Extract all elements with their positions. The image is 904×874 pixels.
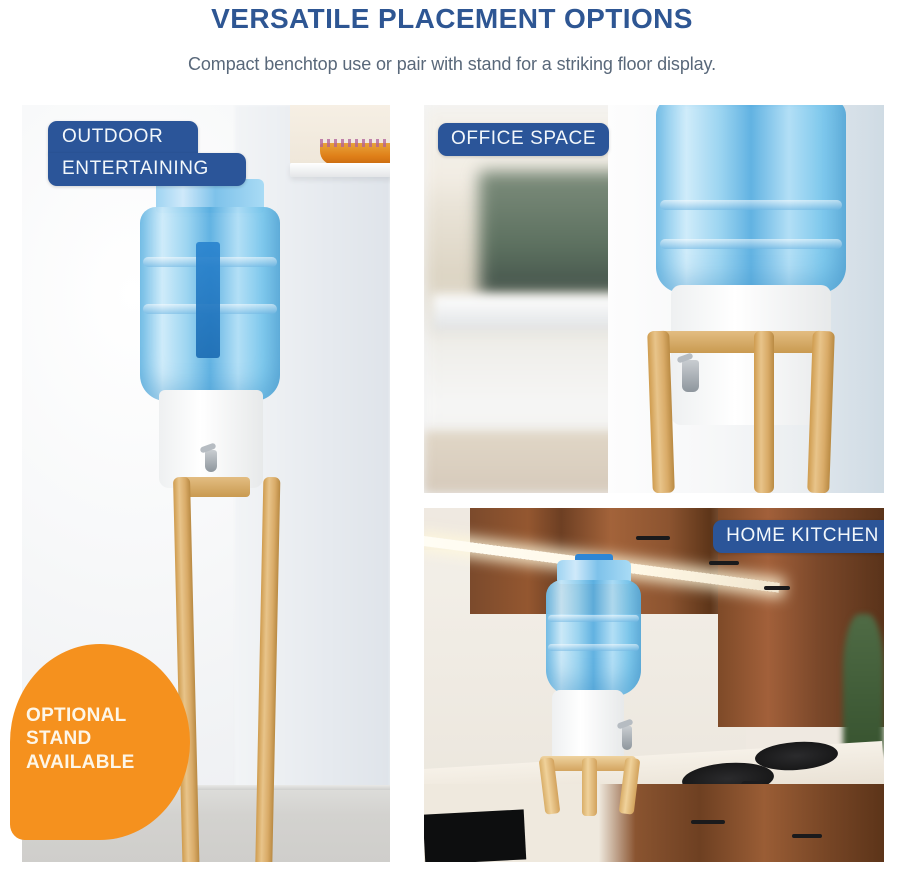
bottle-body [546, 580, 641, 696]
bottle-body [656, 105, 846, 293]
badge-line-1: OUTDOOR [48, 121, 198, 154]
stand-leg-center [754, 331, 774, 493]
stand-top-rail [650, 331, 828, 353]
header: VERSATILE PLACEMENT OPTIONS Compact benc… [0, 0, 904, 100]
bottle-label-strip [196, 242, 220, 358]
decorative-bowl [320, 143, 390, 165]
bubble-line-3: AVAILABLE [26, 751, 135, 774]
page-subtitle: Compact benchtop use or pair with stand … [0, 54, 904, 75]
drawer-handle [792, 834, 822, 838]
bottle-rib [548, 615, 639, 622]
water-bottle [546, 554, 641, 694]
dispenser-base [671, 285, 831, 425]
bottle-rib [660, 239, 842, 249]
badge-outdoor-entertaining: OUTDOOR ENTERTAINING [48, 121, 246, 186]
optional-stand-badge: OPTIONAL STAND AVAILABLE [10, 644, 190, 840]
badge-line-2: ENTERTAINING [48, 153, 246, 186]
kitchen-plant [843, 614, 884, 756]
water-bottle [656, 105, 846, 293]
page-title: VERSATILE PLACEMENT OPTIONS [0, 4, 904, 35]
cabinet-handle [764, 586, 790, 590]
stand-leg-center [582, 758, 597, 816]
bottle-rib [660, 200, 842, 210]
bottle-body [140, 207, 280, 401]
dispenser-base [159, 390, 263, 488]
badge-home-kitchen: HOME KITCHEN [713, 520, 884, 553]
photo-home-kitchen [424, 508, 884, 862]
optional-stand-badge-text: OPTIONAL STAND AVAILABLE [10, 704, 135, 774]
photo-office-space [424, 105, 884, 493]
water-bottle [140, 171, 280, 401]
wall-shelf [290, 163, 390, 177]
cabinet-handle [709, 561, 739, 565]
panel-home-kitchen: HOME KITCHEN [424, 508, 884, 862]
dispenser-tap [205, 450, 217, 472]
promo-graphic: VERSATILE PLACEMENT OPTIONS Compact benc… [0, 0, 904, 874]
bottle-rib [548, 644, 639, 651]
badge-office-space: OFFICE SPACE [438, 123, 609, 156]
cabinet-handle [636, 536, 670, 540]
dispenser-tap [622, 726, 632, 750]
bubble-line-1: OPTIONAL [26, 704, 135, 727]
drawer-handle [691, 820, 725, 824]
kitchen-sink [424, 810, 526, 862]
dispenser-tap [682, 360, 699, 392]
panel-office-space: OFFICE SPACE [424, 105, 884, 493]
bubble-line-2: STAND [26, 727, 135, 750]
